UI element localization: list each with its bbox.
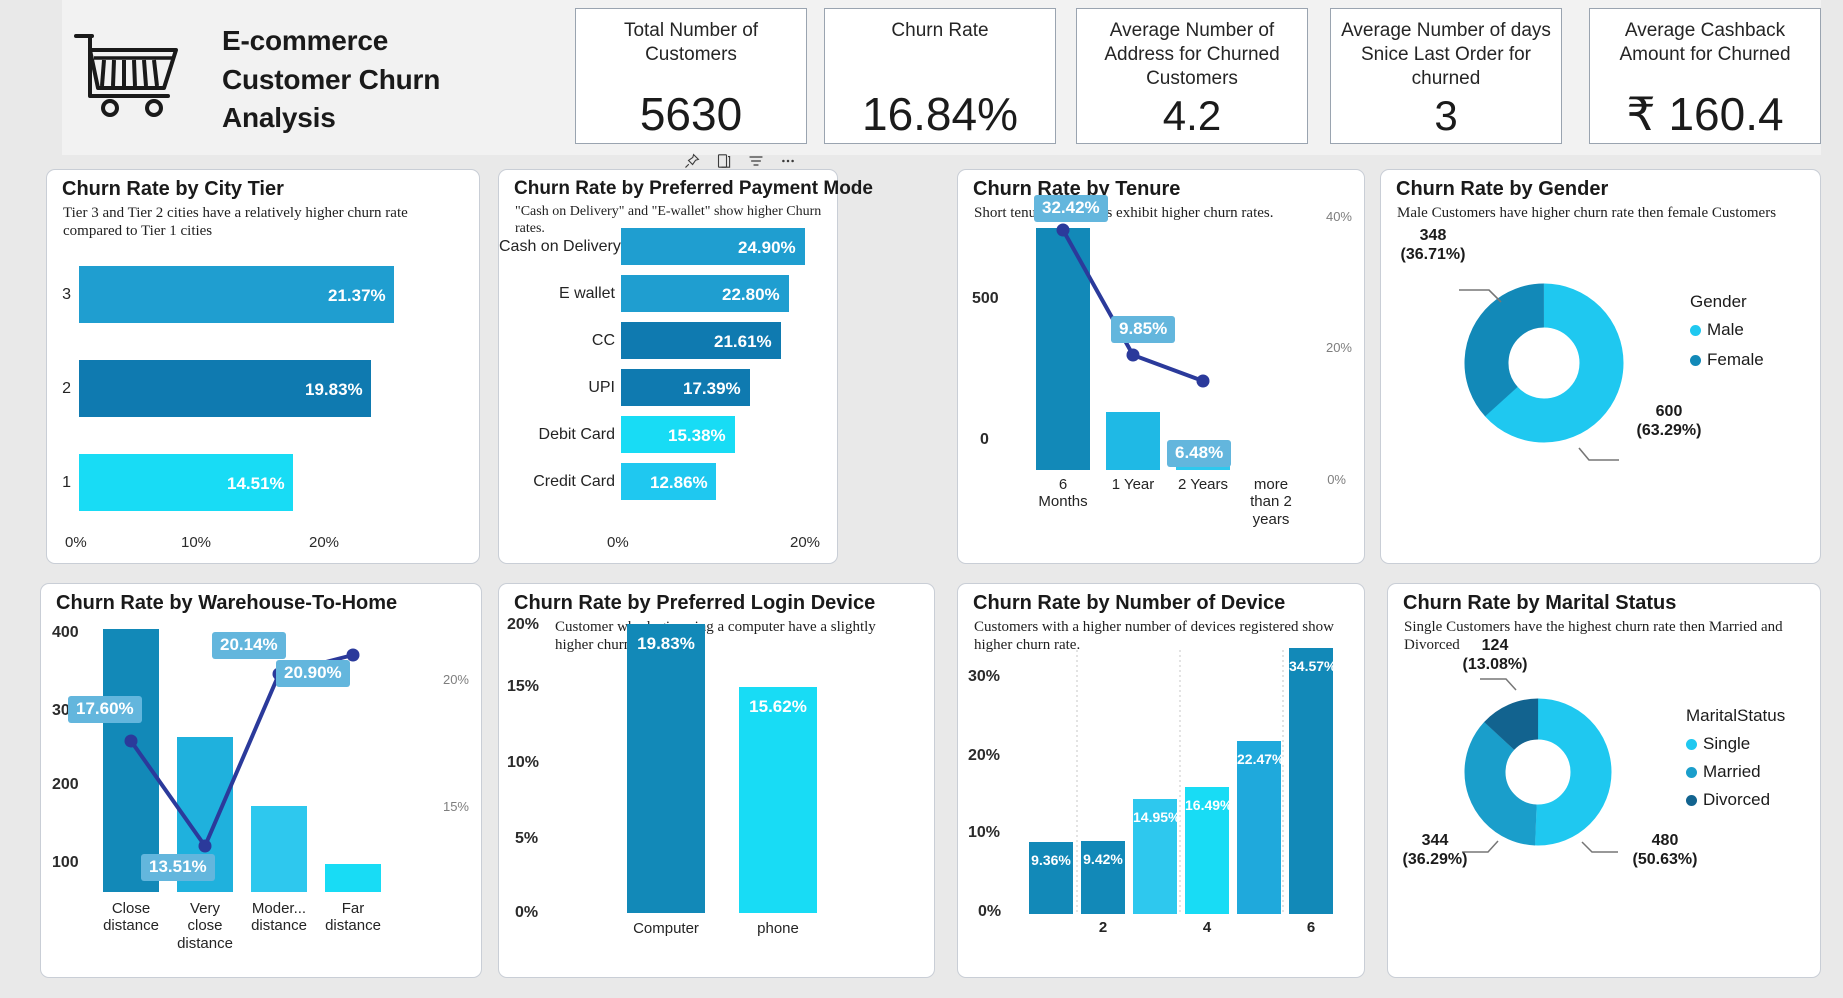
legend-label-female: Female <box>1707 350 1764 370</box>
bar-value-device-6: 34.57% <box>1289 658 1333 674</box>
line-callout-moderate-distance: 20.14% <box>212 632 286 659</box>
legend-label-married: Married <box>1703 762 1761 782</box>
donut-label-single: 480 (50.63%) <box>1610 831 1720 869</box>
churn-rate-line <box>958 170 1366 565</box>
visual-churn-by-tenure[interactable]: Churn Rate by Tenure Short tenure custom… <box>957 169 1365 564</box>
legend-dot-female <box>1690 355 1701 366</box>
x-tick-2: 20% <box>309 534 339 551</box>
bar-value-device-2: 9.42% <box>1081 851 1125 867</box>
x-category-close-distance: Close distance <box>99 900 163 935</box>
kpi-label: Total Number of Customers <box>576 19 806 67</box>
x-category-computer: Computer <box>625 920 707 937</box>
bar-device-6[interactable] <box>1289 648 1333 914</box>
bar-value-tier-1: 14.51% <box>227 474 285 494</box>
chart-title: Churn Rate by Preferred Payment Mode <box>514 178 873 200</box>
legend-label-divorced: Divorced <box>1703 790 1770 810</box>
kpi-value: 16.84% <box>862 91 1018 137</box>
x-category-far-distance: Far distance <box>321 900 385 935</box>
dashboard-canvas: E-commerce Customer Churn Analysis Total… <box>0 0 1843 998</box>
bar-value-device-3: 14.95% <box>1133 809 1177 825</box>
legend-item-single[interactable]: Single <box>1686 734 1750 754</box>
x-tick-6: 6 <box>1289 919 1333 936</box>
x-category-6-months: 6 Months <box>1034 476 1092 511</box>
y-tick-20: 20% <box>507 616 539 634</box>
bar-value-device-5: 22.47% <box>1237 751 1281 767</box>
chart-title: Churn Rate by Preferred Login Device <box>514 592 875 615</box>
x-category-2-years: 2 Years <box>1174 476 1232 493</box>
bar-label-upi: UPI <box>499 379 615 397</box>
kpi-label: Average Number of days Snice Last Order … <box>1331 19 1561 91</box>
visual-churn-by-login-device[interactable]: Churn Rate by Preferred Login Device Cus… <box>498 583 935 978</box>
x-category-phone: phone <box>737 920 819 937</box>
kpi-value: 3 <box>1434 95 1457 137</box>
donut-label-married: 344 (36.29%) <box>1380 831 1490 869</box>
kpi-value: 4.2 <box>1163 95 1221 137</box>
line-callout-close-distance: 17.60% <box>68 696 142 723</box>
kpi-label: Average Cashback Amount for Churned <box>1590 19 1820 67</box>
donut-label-male: 600 (63.29%) <box>1609 402 1729 440</box>
kpi-card-avg-cashback[interactable]: Average Cashback Amount for Churned ₹ 16… <box>1589 8 1821 144</box>
bar-value-upi: 17.39% <box>683 379 741 399</box>
x-tick-0: 0% <box>65 534 87 551</box>
legend-item-married[interactable]: Married <box>1686 762 1761 782</box>
line-callout-6-months: 32.42% <box>1034 195 1108 222</box>
chart-subtitle: Male Customers have higher churn rate th… <box>1397 204 1807 222</box>
bar-value-device-4: 16.49% <box>1185 797 1229 813</box>
line-callout-2-years: 6.48% <box>1167 440 1231 467</box>
donut-label-divorced: 124 (13.08%) <box>1440 636 1550 674</box>
legend-dot-single <box>1686 739 1697 750</box>
gender-donut[interactable] <box>1429 248 1659 478</box>
line-callout-very-close-distance: 13.51% <box>141 854 215 881</box>
bar-label-debit-card: Debit Card <box>499 426 615 444</box>
bar-value-device-1: 9.36% <box>1029 852 1073 868</box>
legend-dot-married <box>1686 767 1697 778</box>
kpi-card-total-customers[interactable]: Total Number of Customers 5630 <box>575 8 807 144</box>
bar-value-cash-on-delivery: 24.90% <box>738 238 796 258</box>
x-category-1-year: 1 Year <box>1104 476 1162 493</box>
bar-label-cc: CC <box>499 332 615 350</box>
x-tick-4: 4 <box>1185 919 1229 936</box>
legend-title: MaritalStatus <box>1686 706 1785 726</box>
legend-dot-male <box>1690 325 1701 336</box>
y-tick-10: 10% <box>507 754 539 772</box>
legend-dot-divorced <box>1686 795 1697 806</box>
kpi-card-avg-days-since-last-order[interactable]: Average Number of days Snice Last Order … <box>1330 8 1562 144</box>
visual-churn-by-payment-mode[interactable]: Churn Rate by Preferred Payment Mode "Ca… <box>498 169 838 564</box>
page-right-margin <box>1821 0 1843 998</box>
legend-label-male: Male <box>1707 320 1744 340</box>
visual-churn-by-warehouse-to-home[interactable]: Churn Rate by Warehouse-To-Home 400 300 … <box>40 583 482 978</box>
visual-churn-by-marital-status[interactable]: Churn Rate by Marital Status Single Cust… <box>1387 583 1821 978</box>
kpi-card-avg-address[interactable]: Average Number of Address for Churned Cu… <box>1076 8 1308 144</box>
bar-computer[interactable] <box>627 624 705 913</box>
visual-churn-by-city-tier[interactable]: Churn Rate by City Tier Tier 3 and Tier … <box>46 169 480 564</box>
line-callout-1-year: 9.85% <box>1111 316 1175 343</box>
x-category-moderate-distance: Moder... distance <box>247 900 311 935</box>
shopping-cart-icon <box>72 30 182 120</box>
bar-value-credit-card: 12.86% <box>650 473 708 493</box>
bar-value-phone: 15.62% <box>739 697 817 717</box>
visual-churn-by-gender[interactable]: Churn Rate by Gender Male Customers have… <box>1380 169 1821 564</box>
kpi-value: ₹ 160.4 <box>1626 91 1783 137</box>
legend-label-single: Single <box>1703 734 1750 754</box>
x-category-more-than-2-years: more than 2 years <box>1240 476 1302 528</box>
bar-value-cc: 21.61% <box>714 332 772 352</box>
page-title: E-commerce Customer Churn Analysis <box>222 22 492 138</box>
x-tick-1: 20% <box>790 534 820 551</box>
bar-value-debit-card: 15.38% <box>668 426 726 446</box>
bar-label-tier-1: 1 <box>47 474 71 492</box>
bar-label-tier-2: 2 <box>47 380 71 398</box>
bar-label-credit-card: Credit Card <box>499 473 615 491</box>
y-tick-5: 5% <box>515 830 538 848</box>
x-tick-2: 2 <box>1081 919 1125 936</box>
chart-title: Churn Rate by Gender <box>1396 178 1608 201</box>
x-tick-0: 0% <box>607 534 629 551</box>
chart-title: Churn Rate by Marital Status <box>1403 592 1676 615</box>
x-tick-1: 10% <box>181 534 211 551</box>
bar-phone[interactable] <box>739 687 817 913</box>
legend-item-male[interactable]: Male <box>1690 320 1744 340</box>
bar-label-tier-3: 3 <box>47 286 71 304</box>
visual-churn-by-number-of-device[interactable]: Churn Rate by Number of Device Customers… <box>957 583 1365 978</box>
bar-value-computer: 19.83% <box>627 634 705 654</box>
bar-value-tier-3: 21.37% <box>328 286 386 306</box>
donut-label-female: 348 (36.71%) <box>1373 226 1493 264</box>
bar-label-e-wallet: E wallet <box>499 285 615 303</box>
legend-item-divorced[interactable]: Divorced <box>1686 790 1770 810</box>
y-tick-15: 15% <box>507 678 539 696</box>
kpi-label: Churn Rate <box>885 19 994 43</box>
chart-subtitle: Customer who login using a computer have… <box>555 618 899 654</box>
bar-value-tier-2: 19.83% <box>305 380 363 400</box>
chart-title: Churn Rate by City Tier <box>62 178 284 201</box>
bar-label-cash-on-delivery: Cash on Delivery <box>499 238 615 256</box>
line-callout-far-distance: 20.90% <box>276 660 350 687</box>
y-tick-0: 0% <box>515 904 538 922</box>
chart-subtitle: Tier 3 and Tier 2 cities have a relative… <box>63 204 467 240</box>
legend-item-female[interactable]: Female <box>1690 350 1764 370</box>
kpi-label: Average Number of Address for Churned Cu… <box>1077 19 1307 91</box>
bar-value-e-wallet: 22.80% <box>722 285 780 305</box>
kpi-value: 5630 <box>640 91 742 137</box>
x-category-very-close-distance: Very close distance <box>173 900 237 952</box>
legend-title: Gender <box>1690 292 1747 312</box>
kpi-card-churn-rate[interactable]: Churn Rate 16.84% <box>824 8 1056 144</box>
